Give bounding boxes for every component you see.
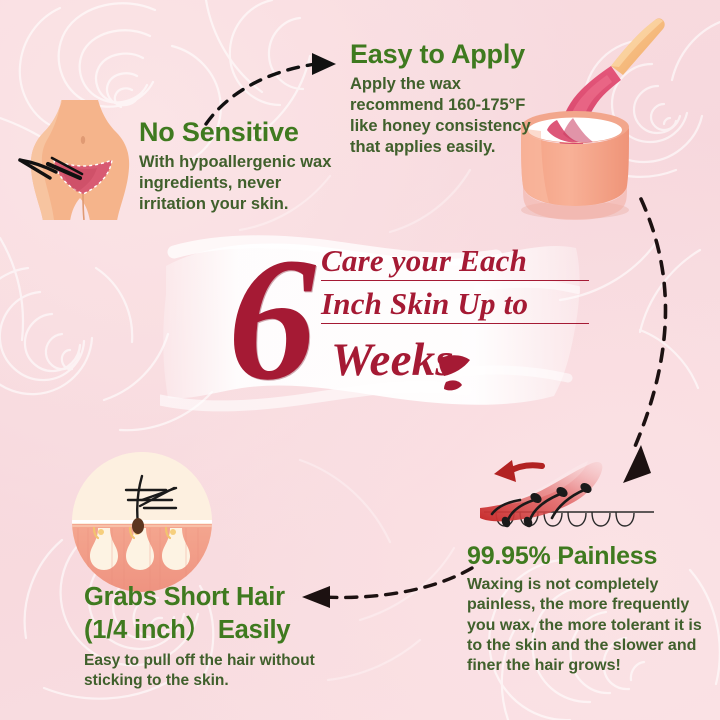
feature-painless: 99.95% Painless Waxing is not completely… — [467, 543, 705, 677]
feature-easy-to-apply: Easy to Apply Apply the wax recommend 16… — [350, 40, 555, 158]
exclamation-flourish-icon — [436, 354, 474, 394]
feature-title: No Sensitive — [139, 118, 344, 147]
headline-group: 6 Care your Each Inch Skin Up to Weeks — [236, 236, 586, 421]
feature-grabs-short-hair: Grabs Short Hair (1/4 inch） Easily Easy … — [84, 584, 324, 690]
headline-line-1: Care your Each — [321, 242, 589, 281]
feature-title-line2: (1/4 inch） Easily — [84, 617, 324, 645]
feature-title: 99.95% Painless — [467, 543, 705, 570]
arrow-to-painless-icon — [585, 195, 710, 490]
feature-title: Easy to Apply — [350, 40, 555, 69]
feature-title-line1: Grabs Short Hair — [84, 584, 324, 612]
headline-line-2: Inch Skin Up to — [321, 285, 589, 324]
bikini-body-waxing-illustration — [18, 98, 148, 220]
headline-number: 6 — [228, 232, 316, 408]
feature-body: Waxing is not completely painless, the m… — [467, 575, 705, 677]
feature-no-sensitive: No Sensitive With hypoallergenic wax ing… — [139, 118, 344, 215]
feature-body: Easy to pull off the hair without sticki… — [84, 651, 324, 690]
feature-body: With hypoallergenic wax ingredients, nev… — [139, 152, 344, 215]
hair-follicle-cross-section-illustration — [68, 448, 216, 596]
feature-body: Apply the wax recommend 160-175°F like h… — [350, 74, 555, 158]
infographic-poster: No Sensitive With hypoallergenic wax ing… — [0, 0, 720, 720]
